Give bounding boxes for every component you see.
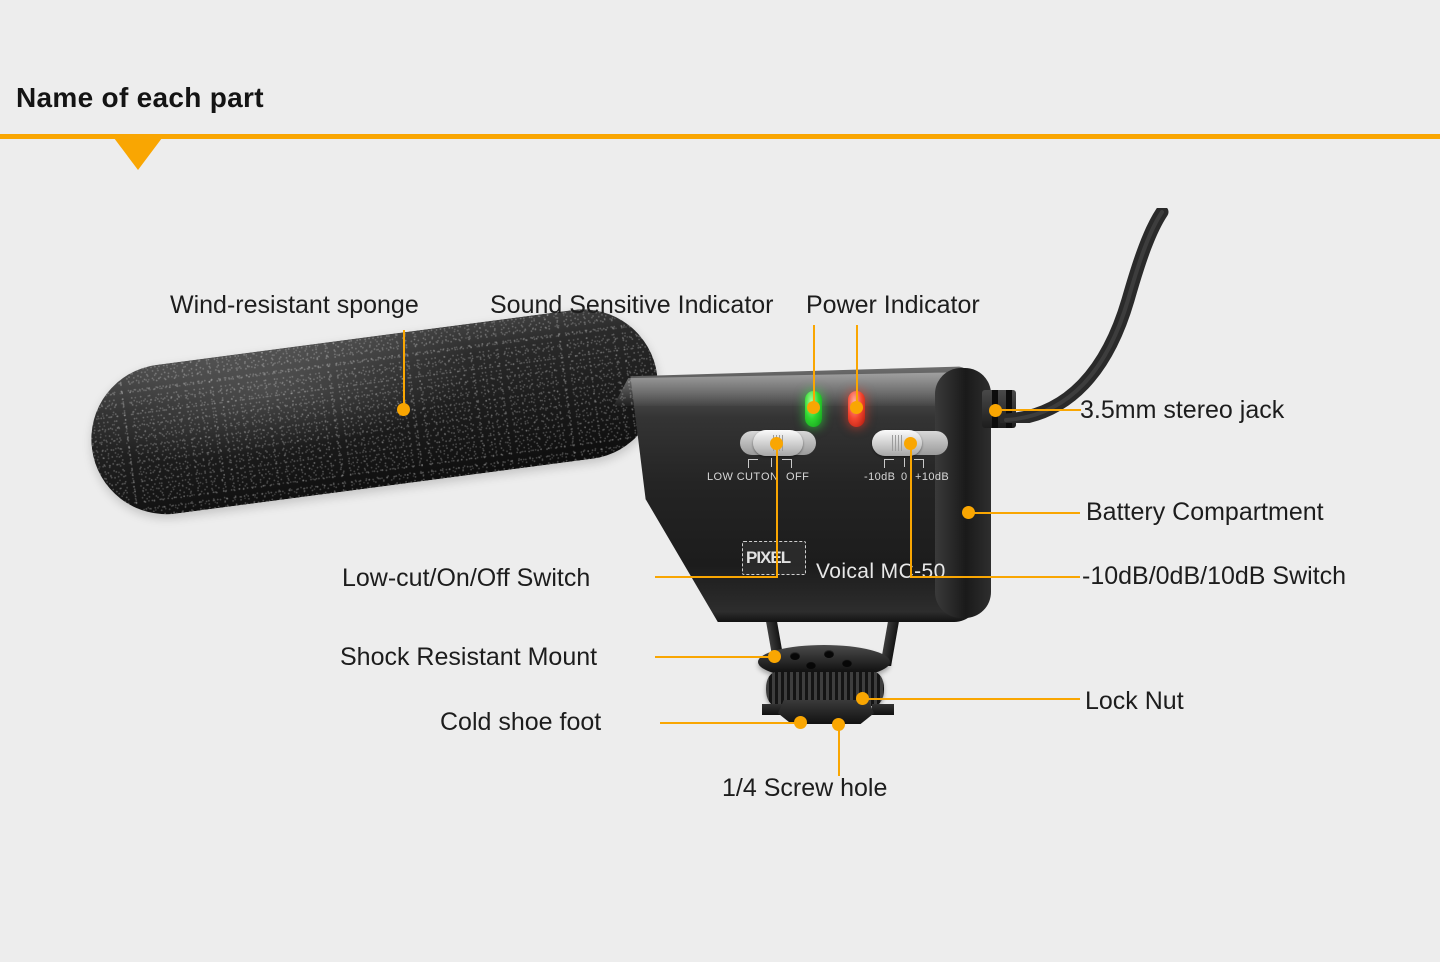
mount-screw-hole — [842, 659, 852, 667]
leader-stereo-jack — [995, 409, 1081, 411]
gain-tick-middle — [904, 458, 905, 467]
callout-shock-resistant-mount: Shock Resistant Mount — [340, 645, 597, 670]
audio-cable — [1000, 208, 1180, 423]
dot-wind-resistant-sponge — [397, 403, 410, 416]
mount-screw-hole — [824, 650, 834, 658]
dot-screw-hole — [832, 718, 845, 731]
callout-screw-hole: 1/4 Screw hole — [722, 776, 887, 801]
page-title: Name of each part — [16, 82, 264, 114]
leader-low-cut-switch-horizontal — [655, 576, 778, 578]
callout-gain-switch: -10dB/0dB/10dB Switch — [1082, 564, 1346, 589]
wind-resistant-sponge-part — [82, 300, 667, 523]
gain-label-right: +10dB — [915, 471, 949, 483]
diagram-canvas: Name of each part LOW CUT ON OFF -10dB 0 — [0, 0, 1440, 962]
brand-logo-plate — [742, 541, 806, 575]
gain-label-middle: 0 — [901, 471, 908, 483]
dot-shock-resistant-mount — [768, 650, 781, 663]
cold-shoe-wing — [872, 704, 894, 715]
dot-cold-shoe-foot — [794, 716, 807, 729]
dot-battery-compartment — [962, 506, 975, 519]
leader-power-indicator — [856, 325, 858, 405]
leader-lock-nut — [862, 698, 1080, 700]
pixel-logo-icon: PIXEL — [746, 547, 800, 568]
low-cut-tick-middle — [771, 458, 772, 467]
callout-low-cut-switch: Low-cut/On/Off Switch — [342, 566, 590, 591]
callout-battery-compartment: Battery Compartment — [1086, 500, 1324, 525]
gain-tick-left — [884, 459, 894, 468]
dot-sound-sensitive-indicator — [807, 401, 820, 414]
callout-sound-sensitive-indicator: Sound Sensitive Indicator — [490, 293, 774, 318]
callout-stereo-jack: 3.5mm stereo jack — [1080, 398, 1284, 423]
leader-low-cut-switch-vertical — [776, 443, 778, 577]
header-arrow-marker — [114, 138, 162, 170]
dot-power-indicator — [850, 401, 863, 414]
callout-wind-resistant-sponge: Wind-resistant sponge — [170, 293, 419, 318]
mount-screw-hole — [806, 661, 816, 669]
leader-battery-compartment — [968, 512, 1080, 514]
low-cut-label-left: LOW CUT — [707, 471, 761, 483]
model-name: Voical MC-50 — [816, 560, 946, 584]
cold-shoe-wing — [762, 704, 784, 715]
leader-gain-switch-vertical — [910, 443, 912, 577]
dot-stereo-jack — [989, 404, 1002, 417]
leader-screw-hole — [838, 726, 840, 776]
dot-lock-nut — [856, 692, 869, 705]
leader-sound-sensitive-indicator — [813, 325, 815, 405]
leader-gain-switch-horizontal — [910, 576, 1080, 578]
foam-texture — [82, 300, 667, 523]
gain-tick-right — [914, 459, 924, 468]
leader-cold-shoe-foot — [660, 722, 800, 724]
low-cut-tick-right — [782, 459, 792, 468]
callout-lock-nut: Lock Nut — [1085, 689, 1184, 714]
low-cut-label-right: OFF — [786, 471, 809, 483]
microphone-body — [600, 366, 980, 622]
body-highlight — [606, 372, 976, 406]
battery-compartment-part — [935, 368, 991, 618]
dot-gain-switch — [904, 437, 917, 450]
microphone-illustration: LOW CUT ON OFF -10dB 0 +10dB PIXEL Voica… — [0, 0, 1440, 962]
callout-power-indicator: Power Indicator — [806, 293, 980, 318]
gain-label-left: -10dB — [864, 471, 895, 483]
dot-low-cut-switch — [770, 437, 783, 450]
shock-mount-leg — [880, 622, 899, 666]
leader-shock-resistant-mount — [655, 656, 774, 658]
leader-wind-resistant-sponge — [403, 330, 405, 409]
callout-cold-shoe-foot: Cold shoe foot — [440, 710, 601, 735]
mount-screw-hole — [790, 652, 800, 660]
header-divider — [0, 134, 1440, 139]
low-cut-tick-left — [748, 459, 758, 468]
